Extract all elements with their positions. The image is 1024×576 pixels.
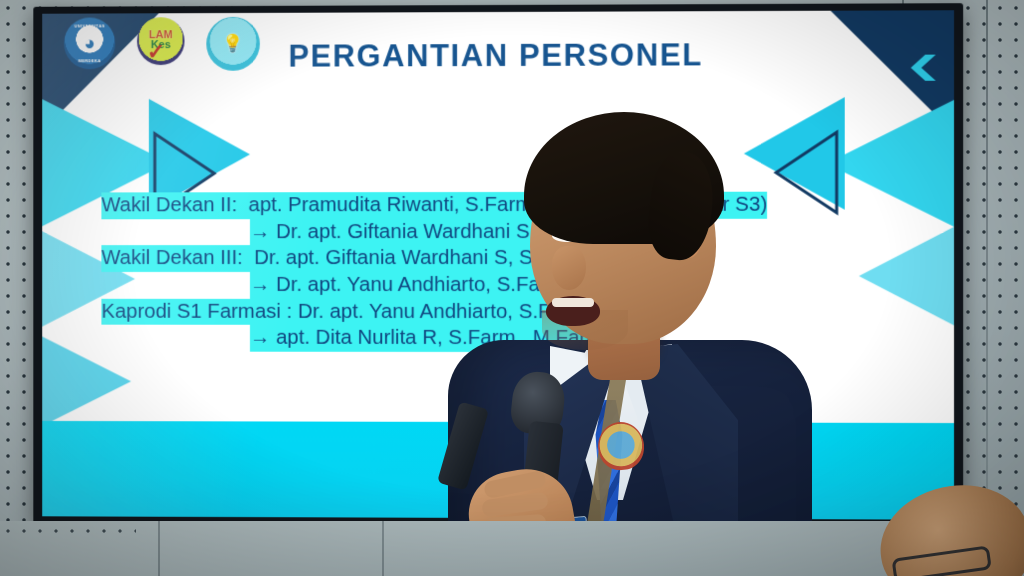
lower-wall bbox=[0, 521, 1024, 576]
page-title: PERGANTIAN PERSONEL bbox=[42, 36, 954, 75]
wall-perforation bbox=[0, 523, 136, 545]
wall-panel-seam bbox=[158, 521, 160, 576]
presenter bbox=[438, 104, 818, 576]
presenter-mouth bbox=[546, 296, 600, 326]
presenter-teeth bbox=[552, 298, 594, 307]
presentation-scene: UNIVERSITAS ◕ MERDEKA LAM Kes ✓ 💡 PERGAN… bbox=[0, 0, 1024, 576]
presenter-nose bbox=[552, 246, 586, 290]
university-logo-top-text: UNIVERSITAS bbox=[74, 23, 105, 28]
wall-panel-seam bbox=[382, 521, 384, 576]
eyeglasses-icon bbox=[891, 545, 991, 576]
